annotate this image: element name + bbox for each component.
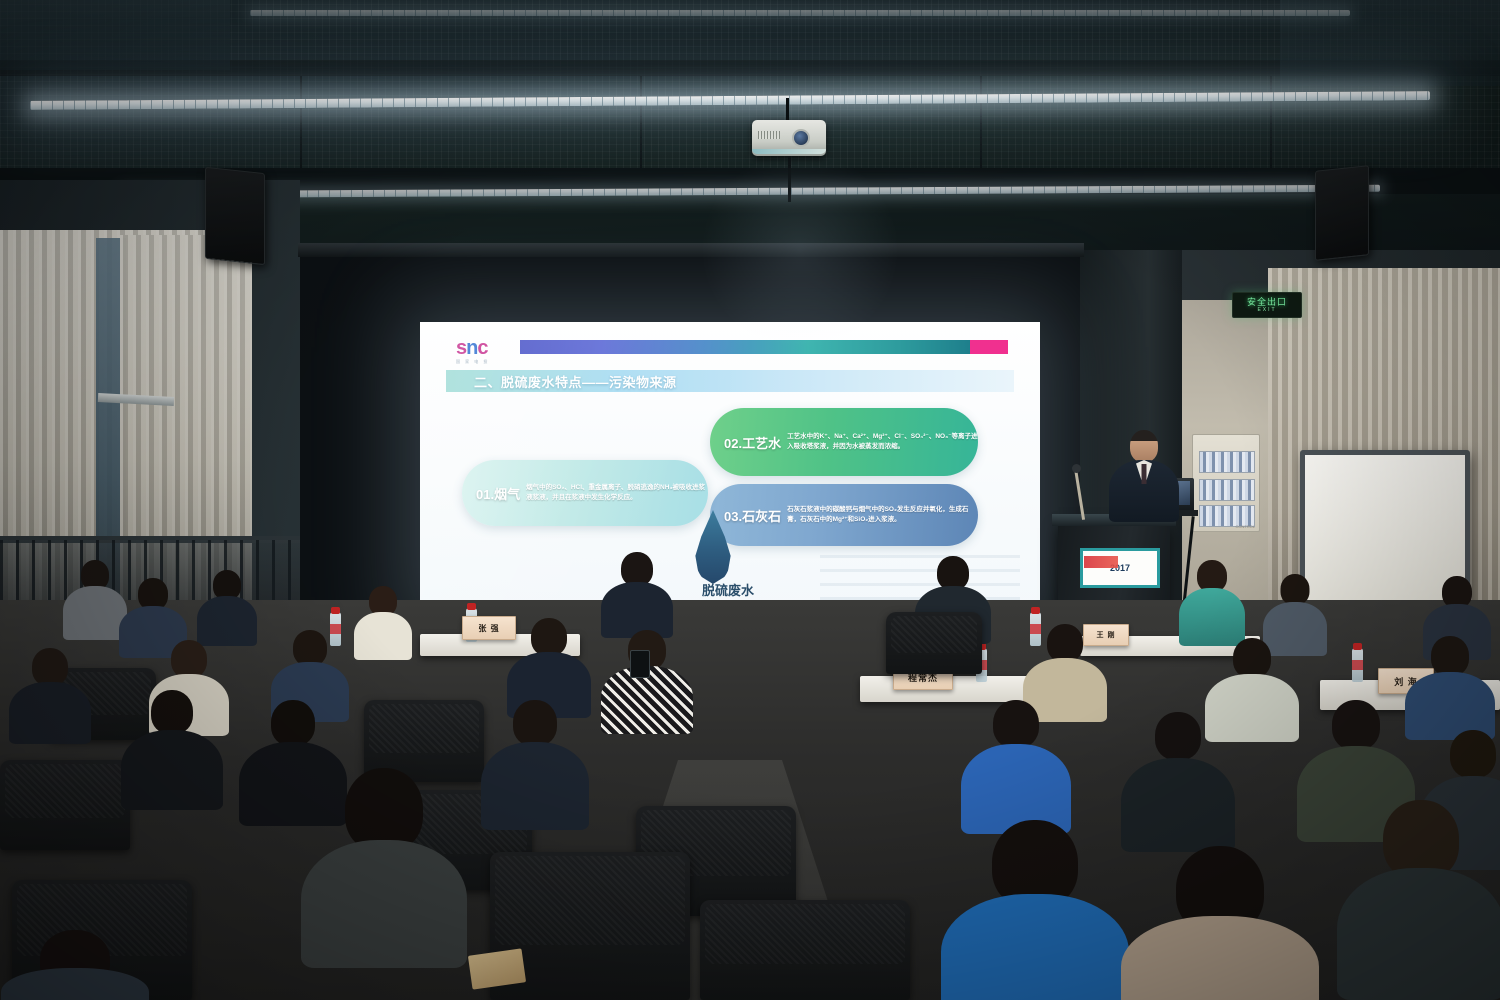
screen-casing [298,243,1084,257]
slide-bubble-02-text: 工艺水中的K⁺、Na⁺、Ca²⁺、Mg²⁺、Cl⁻、SO₄²⁻、NO₃⁻等离子进… [787,432,978,453]
slide-title-bar: 二、脱硫废水特点——污染物来源 [446,370,1014,392]
control-panel-row-2[interactable] [1199,479,1255,501]
projector-vent [758,131,780,139]
conference-room-photo: 安全出口 EXIT CONTROL snc 国 家 电 投 二、脱硫废水特点——… [0,0,1500,1000]
slide-bubble-01-tag: 01.烟气 [476,484,520,503]
audience-body [941,894,1129,1000]
audience-member [600,630,694,734]
spic-logo-mark: snc [456,338,514,358]
exit-sign-label-cn: 安全出口 [1247,297,1287,307]
projector-cable [788,156,791,202]
audience-head [271,700,315,746]
audience-body [301,840,467,968]
ceiling-rod-4 [1270,76,1272,168]
chair[interactable] [886,612,982,674]
audience-head [1332,700,1380,750]
ceiling-projector [752,120,826,156]
microphone-head-icon [1072,464,1081,473]
name-placard-label: 张 强 [478,623,499,634]
ceiling-rod-1 [300,76,302,168]
slide-bubble-process-water: 02.工艺水 工艺水中的K⁺、Na⁺、Ca²⁺、Mg²⁺、Cl⁻、SO₄²⁻、N… [710,408,978,476]
audience-body [481,742,589,830]
chair[interactable] [0,760,130,850]
slide-header-accent [970,340,1008,354]
audience-head [1047,624,1083,662]
audience-body [1,968,149,1000]
audience-member [352,586,414,660]
audience-head [1450,730,1496,778]
projector-mount [786,98,789,122]
audience-head [621,552,653,586]
audience-member [8,648,92,744]
water-bottle-3[interactable] [1352,648,1363,682]
audience-member [940,820,1130,1000]
audience-member [0,930,150,1000]
audience-member [960,700,1072,834]
audience-head [151,690,193,734]
audience-head [293,630,327,666]
audience-body [1121,916,1319,1000]
exit-sign-label-en: EXIT [1257,307,1276,314]
audience-body [197,596,257,646]
control-panel-tag: CONTROL [1235,524,1255,529]
audience-head [171,640,207,678]
wall-speaker-left [205,167,265,265]
wall-control-panel[interactable]: CONTROL [1192,434,1260,532]
audience-member [1178,560,1246,646]
projector-lens-icon [792,129,810,147]
audience-body [121,730,223,810]
slide-title-text: 二、脱硫废水特点——污染物来源 [474,372,677,391]
spic-logo-sub: 国 家 电 投 [456,359,514,365]
audience-member [196,570,258,646]
slide-header-bar [520,340,970,354]
slide-footer-label: 脱硫废水 [702,580,754,599]
audience-head [513,700,557,746]
audience-head [1155,712,1201,760]
audience-member [600,552,674,638]
audience-head [993,700,1039,748]
audience-head [1431,636,1469,676]
slide-bubble-flue-gas: 01.烟气 烟气中的SO₂、HCl、重金属离子、脱硝逃逸的NH₃被吸收进浆液浆液… [462,460,708,526]
audience-member [120,690,224,810]
slide-bubble-02-tag: 02.工艺水 [724,433,781,452]
ceiling-light-strip-top [250,10,1350,16]
audience-head [937,556,969,590]
audience-member [300,768,468,968]
podium-banner[interactable]: 2017 [1080,548,1160,588]
ceiling-rod-2 [640,76,642,168]
audience-head [1281,574,1310,605]
slide-bubble-03-tag: 03.石灰石 [724,506,781,525]
audience-member [480,700,590,830]
wall-speaker-right [1315,165,1369,261]
control-panel-row-1[interactable] [1199,451,1255,473]
audience-body [1337,868,1500,1000]
smartphone-held-up[interactable] [630,650,650,678]
presenter-necktie [1142,464,1147,484]
presenter-head [1130,430,1158,462]
audience-body [354,612,412,660]
slide-bubble-03-text: 石灰石浆液中的碳酸钙与烟气中的SO₂发生反应并氧化，生成石膏，石灰石中的Mg²⁺… [787,505,978,526]
slide-bubble-limestone: 03.石灰石 石灰石浆液中的碳酸钙与烟气中的SO₂发生反应并氧化，生成石膏，石灰… [710,484,978,546]
audience-member [1120,846,1320,1000]
audience-head [32,648,68,686]
audience-member [1120,712,1236,852]
podium-banner-mark [1084,556,1118,568]
projector-trim [752,149,826,154]
audience-head [1233,638,1271,678]
chair[interactable] [700,900,910,1000]
audience-body [9,682,91,744]
spic-logo: snc 国 家 电 投 [456,338,514,364]
slide-bubble-01-text: 烟气中的SO₂、HCl、重金属离子、脱硝逃逸的NH₃被吸收进浆液浆液，并且在浆液… [526,483,708,504]
audience-member [1404,636,1496,740]
audience-body [1121,758,1235,852]
ceiling-panel-left [0,0,230,70]
exit-sign: 安全出口 EXIT [1232,292,1302,318]
audience-head [531,618,567,656]
audience-member [1336,800,1500,1000]
presenter [1108,430,1180,522]
ceiling-rod-3 [980,76,982,168]
